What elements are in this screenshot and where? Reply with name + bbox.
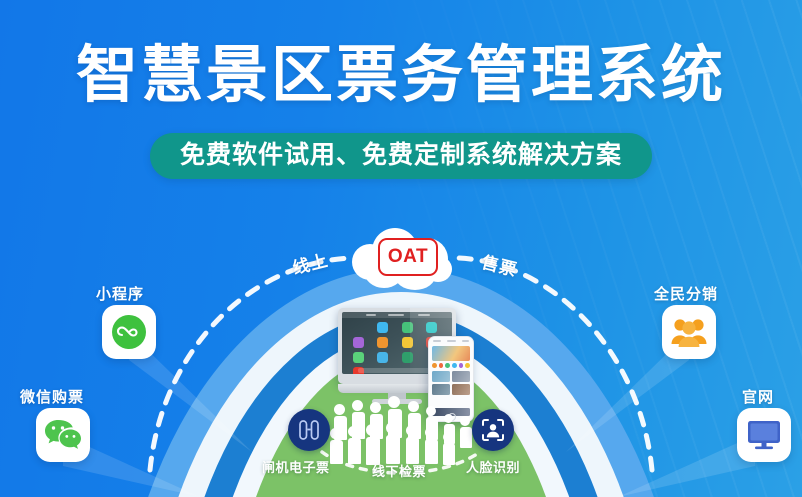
- channel-tile-distribution[interactable]: [662, 305, 716, 359]
- ground-icon-face-recognition[interactable]: [472, 409, 514, 451]
- channel-label-mini-program: 小程序: [96, 283, 144, 304]
- wechat-icon: [43, 417, 83, 453]
- face-scan-icon: [480, 417, 506, 443]
- subtitle-pill: 免费软件试用、免费定制系统解决方案: [150, 133, 652, 179]
- channel-label-website: 官网: [742, 386, 774, 407]
- wechat-miniprogram-icon: [110, 313, 148, 351]
- ground-label-face-recognition: 人脸识别: [466, 457, 520, 476]
- oat-brand-badge: OAT: [378, 238, 438, 276]
- channel-tile-mini-program[interactable]: [102, 305, 156, 359]
- turnstile-gate-icon: [296, 417, 322, 443]
- ground-label-gate-eticket: 闸机电子票: [262, 457, 330, 476]
- promo-banner: 智慧景区票务管理系统 免费软件试用、免费定制系统解决方案 OAT 线上 售票: [0, 0, 802, 497]
- channel-tile-website[interactable]: [737, 408, 791, 462]
- crowd-icon: [330, 382, 482, 460]
- channel-label-distribution: 全民分销: [654, 283, 718, 304]
- monitor-icon: [745, 418, 783, 452]
- cloud-shape: OAT: [352, 228, 460, 294]
- arc-label-online: 线上: [290, 246, 331, 279]
- people-group-icon: [670, 315, 708, 349]
- ground-label-offline-check: 线下检票: [372, 461, 426, 480]
- arc-label-ticketing: 售票: [480, 248, 521, 281]
- page-title: 智慧景区票务管理系统: [0, 43, 802, 109]
- channel-label-wechat: 微信购票: [20, 386, 84, 407]
- ground-icon-gate-eticket[interactable]: [288, 409, 330, 451]
- channel-tile-wechat[interactable]: [36, 408, 90, 462]
